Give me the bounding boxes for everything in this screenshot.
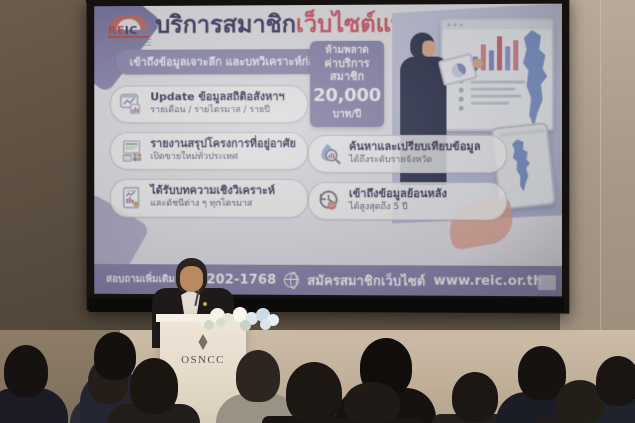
audience-head (236, 350, 280, 402)
audience-head (344, 382, 400, 423)
logo-subtext-block (108, 39, 151, 46)
housing-report-icon (120, 139, 144, 163)
feature-list-left: Update ข้อมูลสถิติอสังหาฯรายเดือน / รายไ… (110, 85, 308, 218)
magnifier-search-icon (318, 142, 342, 166)
pie-chart-icon (450, 62, 467, 79)
podium-emblem-icon (199, 334, 208, 350)
projected-slide: REIC บริการสมาชิกเว็บไซต์แบบพิเศษ เข้าถึ… (94, 4, 562, 297)
price-badge: ห้ามพลาด (310, 43, 384, 58)
logo-underline (108, 36, 149, 38)
dashboard-text-lines (471, 80, 526, 108)
flower-arrangement (196, 306, 288, 332)
chart-bar (513, 40, 518, 70)
globe-icon (284, 272, 299, 287)
tablet-thailand-map-icon (504, 138, 540, 193)
flower (216, 318, 225, 327)
podium-venue-label: OSNCC (160, 354, 246, 366)
feature-subtitle: ได้สูงสุดถึง 5 ปี (349, 202, 447, 214)
room-wall-right (560, 0, 635, 340)
footer-website-url: www.reic.or.th (434, 273, 543, 289)
dashboard-bullet-list (459, 79, 464, 115)
price-box: ห้ามพลาด ค่าบริการ สมาชิก 20,000 บาท/ปี (310, 41, 384, 127)
feature-card: ค้นหาและเปรียบเทียบข้อมูลได้ถึงระดับรายจ… (308, 135, 507, 173)
chart-bar (505, 46, 510, 70)
footer-ask-label: สอบถามเพิ่มเติม (106, 271, 175, 286)
audience-head (596, 356, 635, 406)
audience-head (130, 358, 178, 414)
feature-title: เข้าถึงข้อมูลย้อนหลัง (349, 188, 447, 201)
feature-title: Update ข้อมูลสถิติอสังหาฯ (150, 91, 284, 104)
slide-title-lead: บริการสมาชิก (155, 10, 296, 39)
document-analysis-icon (120, 186, 144, 210)
window-dot (454, 23, 457, 26)
illustration-person-face (422, 41, 435, 57)
audience-head (452, 372, 498, 422)
audience-head (4, 345, 48, 397)
wall-seam (600, 0, 601, 330)
flower (226, 320, 236, 330)
clock-history-icon: 5Y (318, 189, 342, 213)
feature-list-right: ค้นหาและเปรียบเทียบข้อมูลได้ถึงระดับรายจ… (308, 135, 507, 221)
chart-bar (489, 50, 494, 70)
price-line-2: สมาชิก (310, 71, 384, 84)
feature-subtitle: เปิดขายใหม่ทั่วประเทศ (150, 152, 296, 163)
feature-card: Update ข้อมูลสถิติอสังหาฯรายเดือน / รายไ… (110, 85, 308, 123)
price-unit: บาท/ปี (310, 106, 384, 121)
flower (240, 320, 251, 331)
feature-texts: ค้นหาและเปรียบเทียบข้อมูลได้ถึงระดับรายจ… (349, 141, 481, 166)
footer-register-label: สมัครสมาชิกเว็บไซต์ (307, 269, 425, 291)
window-dot (447, 23, 450, 26)
flower (204, 320, 214, 330)
window-dot (460, 23, 463, 26)
feature-texts: รายงานสรุปโครงการที่อยู่อาศัยเปิดขายใหม่… (150, 138, 296, 163)
feature-subtitle: ได้ถึงระดับรายจังหวัด (349, 155, 481, 166)
price-amount: 20,000 (310, 85, 384, 107)
speaker-face (180, 266, 203, 292)
svg-text:5Y: 5Y (329, 203, 335, 209)
feature-title: ค้นหาและเปรียบเทียบข้อมูล (349, 141, 481, 154)
audience-head (94, 332, 136, 380)
feature-card: 5Yเข้าถึงข้อมูลย้อนหลังได้สูงสุดถึง 5 ปี (308, 182, 507, 221)
footer-qr-badge (538, 275, 556, 290)
illustration-person-hand (473, 58, 483, 68)
reic-logo: REIC (106, 15, 153, 49)
feature-card: ได้รับบทความเชิงวิเคราะห์และดัชนีต่าง ๆ … (110, 179, 308, 217)
audience-head (286, 362, 342, 423)
chart-bar (497, 36, 502, 70)
feature-texts: ได้รับบทความเชิงวิเคราะห์และดัชนีต่าง ๆ … (150, 185, 275, 210)
feature-texts: เข้าถึงข้อมูลย้อนหลังได้สูงสุดถึง 5 ปี (349, 188, 447, 213)
flower (260, 319, 271, 330)
feature-title: รายงานสรุปโครงการที่อยู่อาศัย (150, 138, 296, 151)
feature-texts: Update ข้อมูลสถิติอสังหาฯรายเดือน / รายไ… (150, 91, 284, 116)
feature-title: ได้รับบทความเชิงวิเคราะห์ (150, 185, 275, 198)
feature-subtitle: และดัชนีต่าง ๆ ทุกไตรมาส (150, 199, 275, 210)
chart-window-icon (120, 92, 144, 116)
feature-card: รายงานสรุปโครงการที่อยู่อาศัยเปิดขายใหม่… (110, 132, 308, 170)
feature-subtitle: รายเดือน / รายไตรมาส / รายปี (150, 105, 284, 116)
presentation-photo: REIC บริการสมาชิกเว็บไซต์แบบพิเศษ เข้าถึ… (0, 0, 635, 423)
